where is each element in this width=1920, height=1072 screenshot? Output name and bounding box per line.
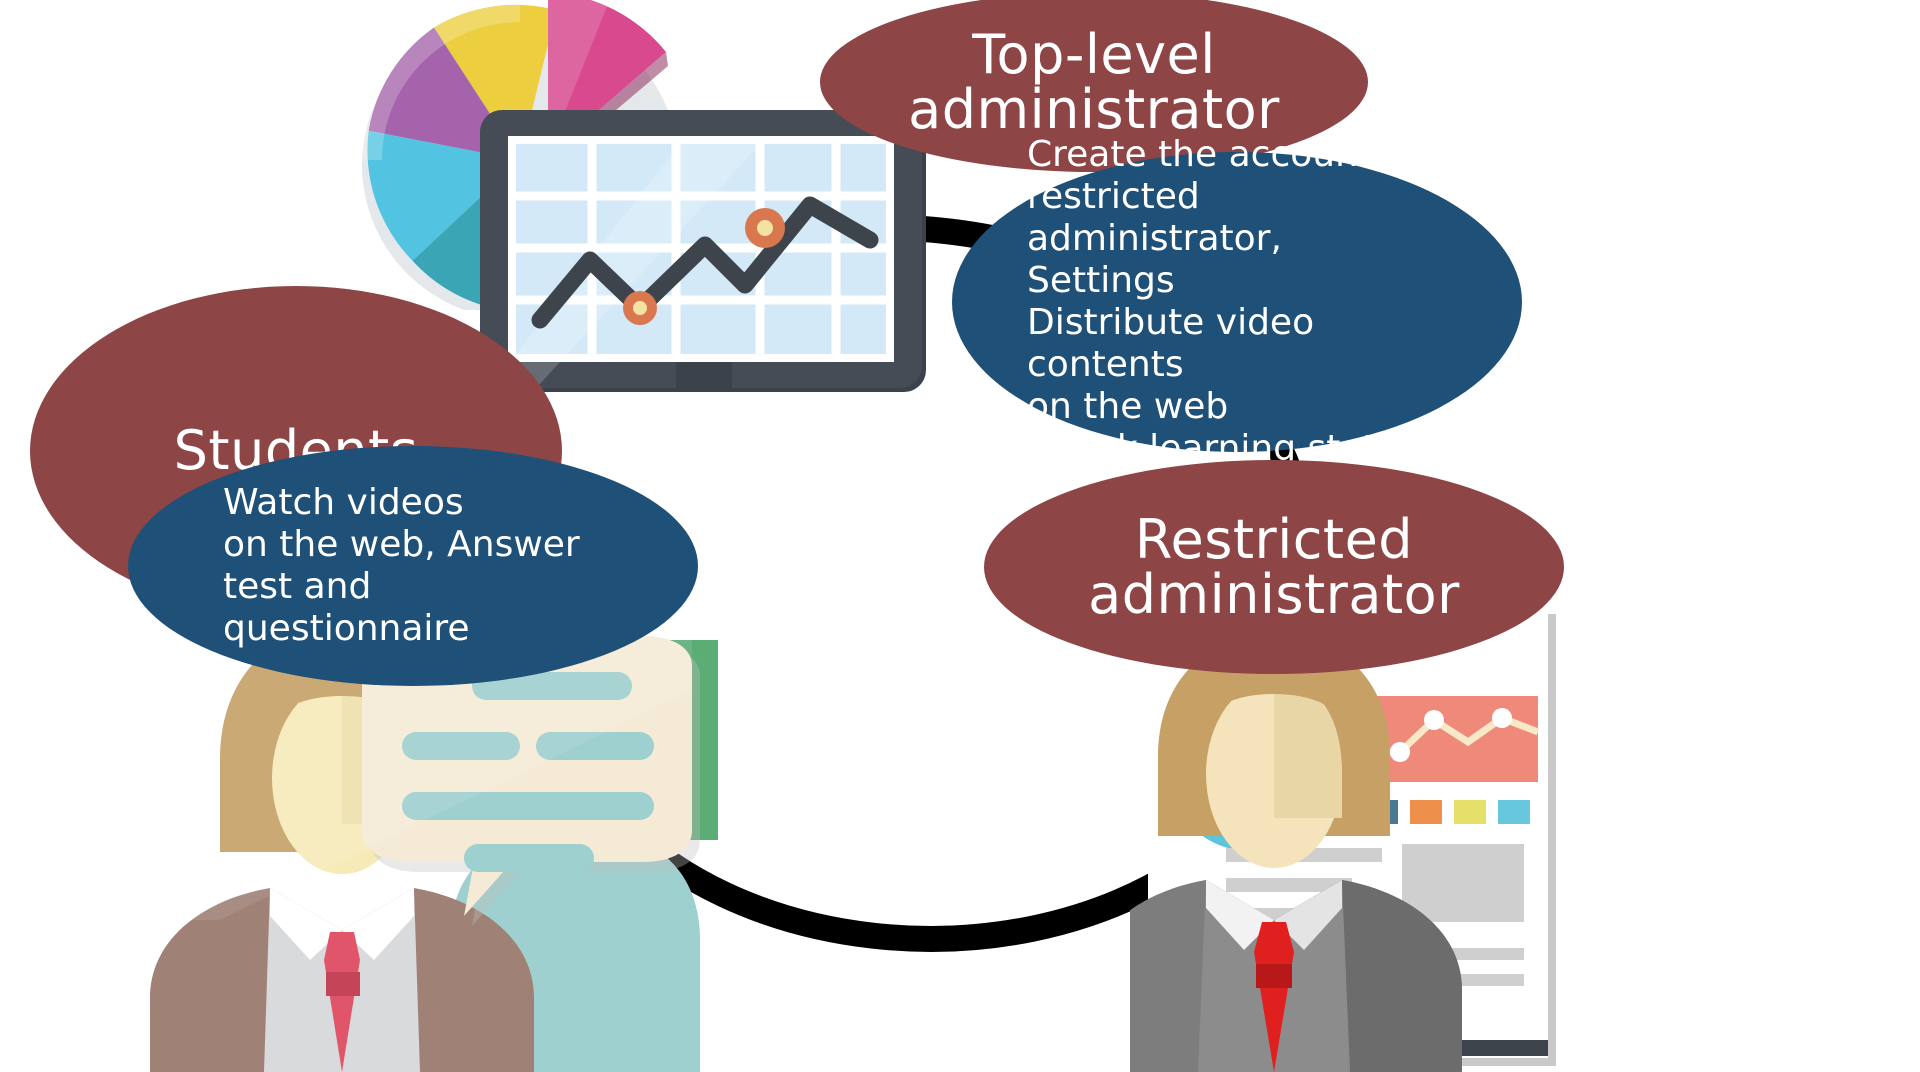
report-illustration [1130,600,1600,1072]
tablet-line-chart [480,110,930,400]
role-label-top-level-administrator: Top-level administrator [908,27,1280,137]
role-label-restricted-administrator: Restricted administrator [1088,512,1460,622]
task-label-students: Watch videos on the web, Answer test and… [223,482,603,650]
diagram-canvas: Top-level administrator Create the accou… [0,0,1920,1072]
task-ellipse-admin[interactable]: Create the account of restricted adminis… [952,152,1522,452]
task-ellipse-students[interactable]: Watch videos on the web, Answer test and… [128,446,698,686]
task-label-admin: Create the account of restricted adminis… [1027,134,1447,471]
role-ellipse-restricted-administrator[interactable]: Restricted administrator [984,460,1564,674]
